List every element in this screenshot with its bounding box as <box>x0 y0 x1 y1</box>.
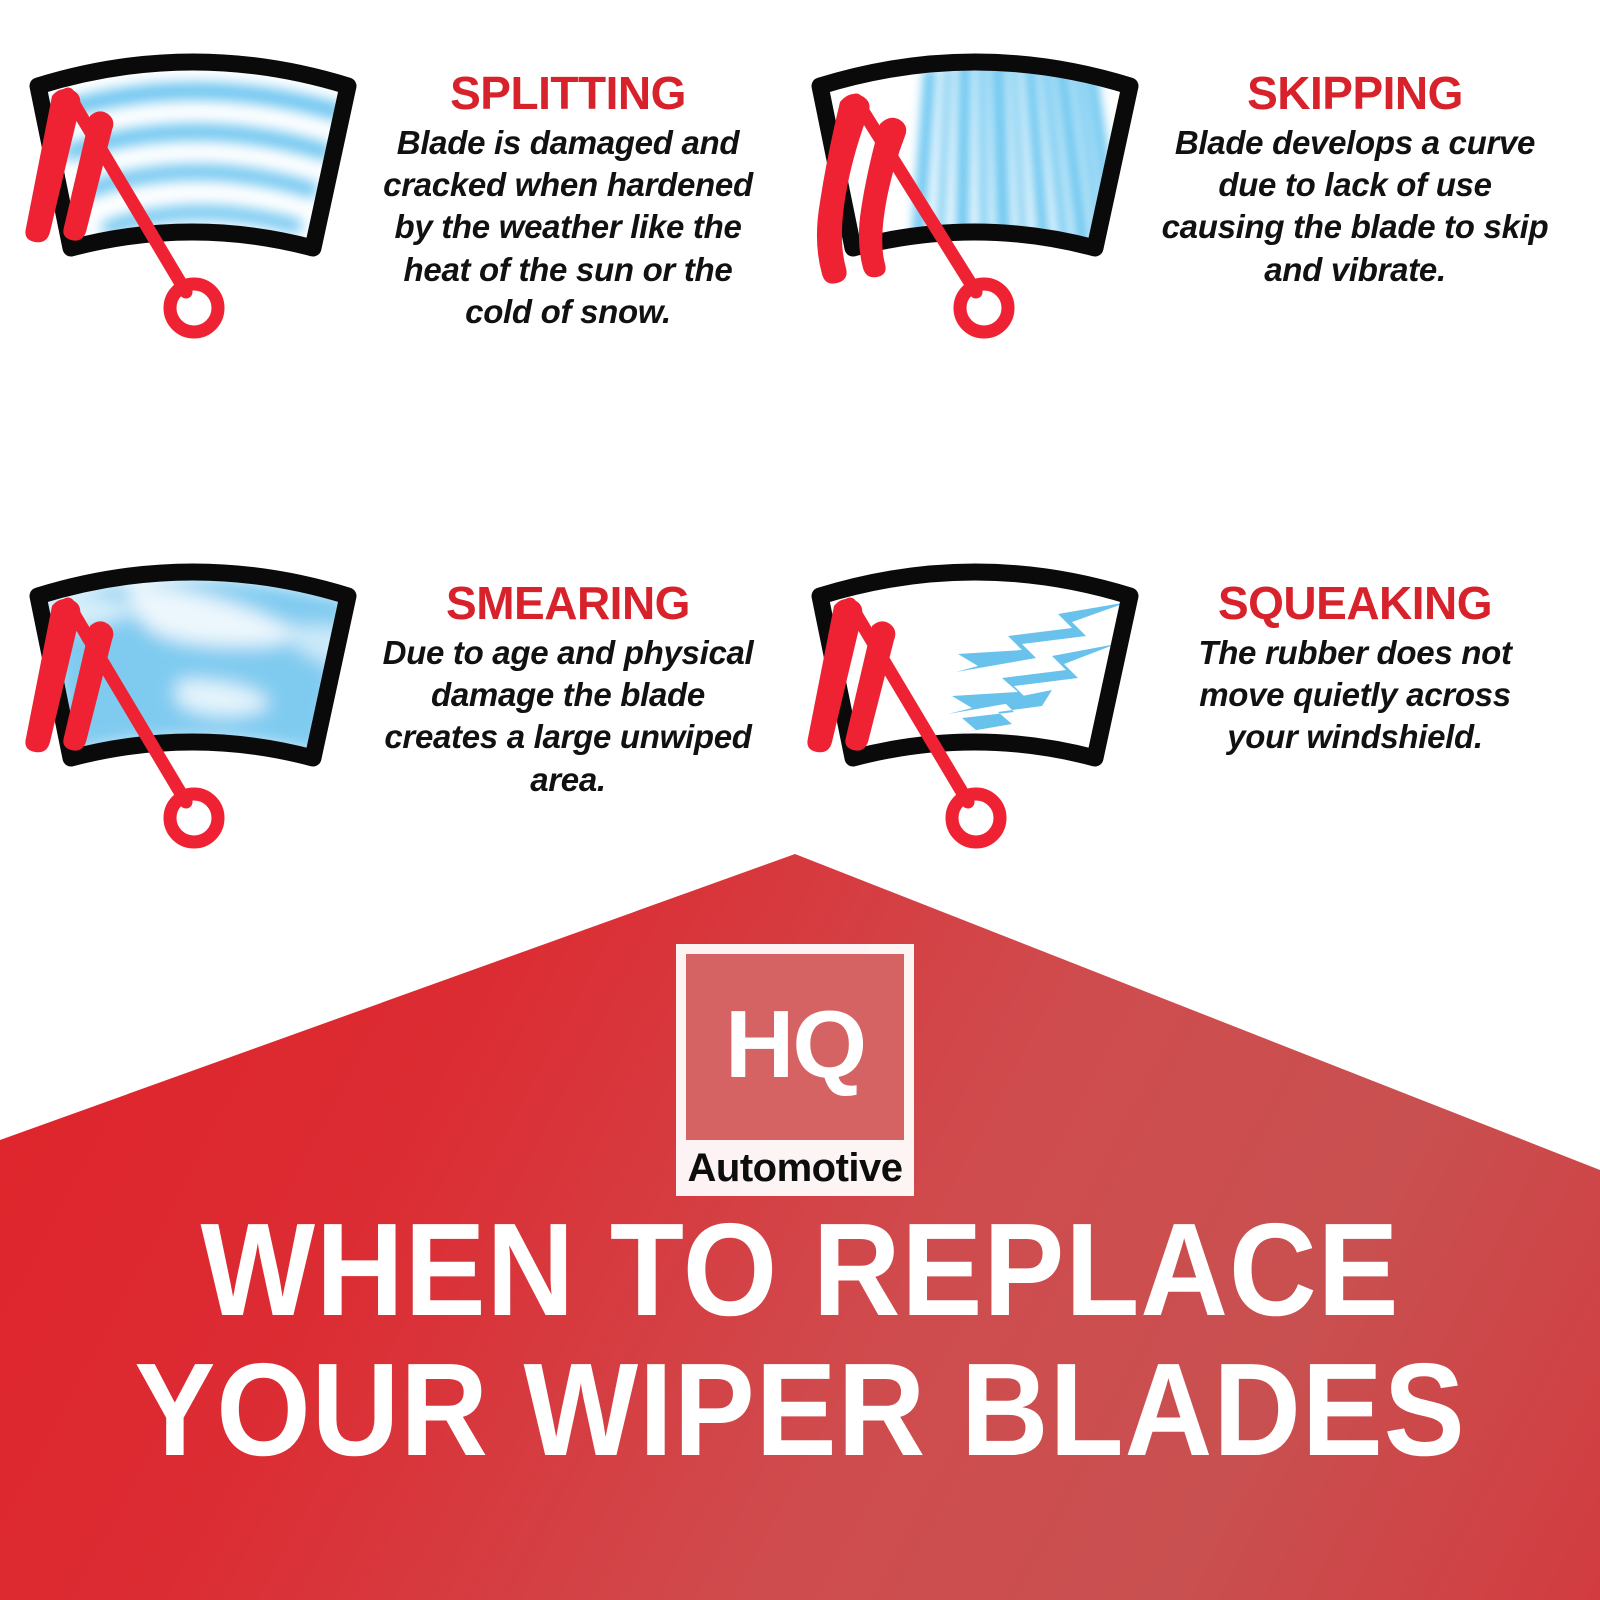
logo-mark-text: HQ <box>725 997 865 1093</box>
headline: WHEN TO REPLACE YOUR WIPER BLADES <box>0 1200 1600 1480</box>
symptom-title: SPLITTING <box>378 70 758 116</box>
symptom-description: Blade develops a curve due to lack of us… <box>1160 122 1550 291</box>
symptom-description: The rubber does not move quietly across … <box>1160 632 1550 759</box>
symptom-card-grid: SPLITTING Blade is damaged and cracked w… <box>0 0 1600 880</box>
symptom-card-skipping: SKIPPING Blade develops a curve due to l… <box>790 20 1570 450</box>
red-chevron-banner: HQ Automotive WHEN TO REPLACE YOUR WIPER… <box>0 840 1600 1600</box>
hq-automotive-logo: HQ Automotive <box>676 944 914 1196</box>
wiper-skipping-icon <box>790 20 1160 350</box>
logo-mark-box: HQ <box>686 954 904 1140</box>
symptom-title: SMEARING <box>378 580 758 626</box>
symptom-description: Blade is damaged and cracked when harden… <box>378 122 758 333</box>
symptom-text-smearing: SMEARING Due to age and physical damage … <box>378 530 788 801</box>
wiper-splitting-icon <box>8 20 378 350</box>
headline-line-1: WHEN TO REPLACE <box>64 1200 1536 1340</box>
symptom-title: SQUEAKING <box>1160 580 1550 626</box>
symptom-title: SKIPPING <box>1160 70 1550 116</box>
headline-line-2: YOUR WIPER BLADES <box>64 1340 1536 1480</box>
wiper-squeaking-icon <box>790 530 1160 860</box>
symptom-card-splitting: SPLITTING Blade is damaged and cracked w… <box>8 20 788 450</box>
logo-subtitle: Automotive <box>686 1140 904 1196</box>
symptom-description: Due to age and physical damage the blade… <box>378 632 758 801</box>
wiper-smearing-icon <box>8 530 378 860</box>
symptom-text-splitting: SPLITTING Blade is damaged and cracked w… <box>378 20 788 333</box>
symptom-text-squeaking: SQUEAKING The rubber does not move quiet… <box>1160 530 1570 759</box>
symptom-text-skipping: SKIPPING Blade develops a curve due to l… <box>1160 20 1570 291</box>
